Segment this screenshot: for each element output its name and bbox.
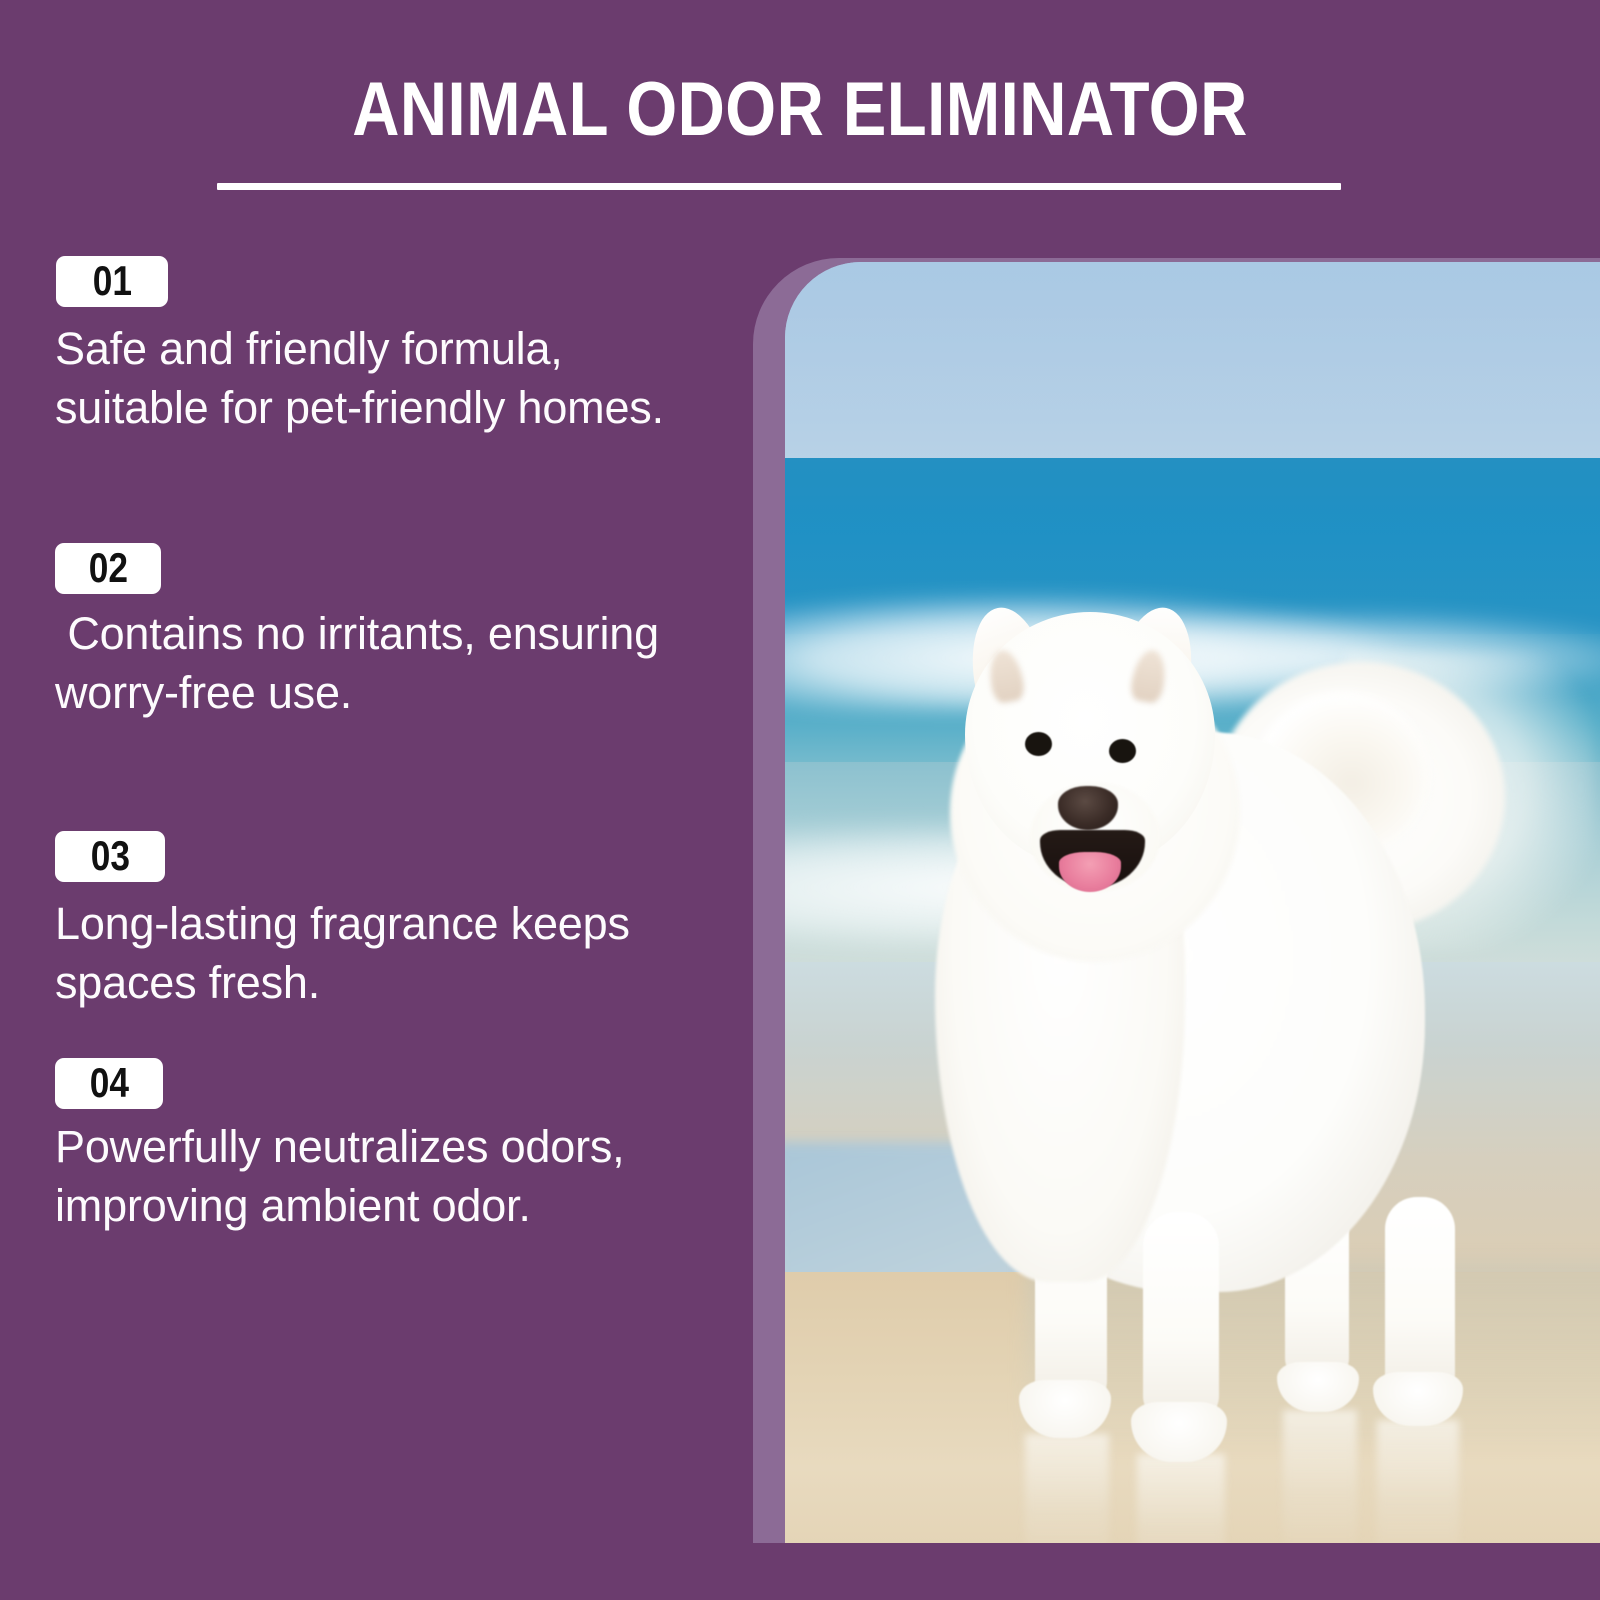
feature-number-04: 04 — [89, 1058, 128, 1108]
dog-illustration — [785, 262, 1600, 1543]
feature-item-02: 02 Contains no irritants, ensuring worry… — [0, 543, 720, 723]
feature-text-03: Long-lasting fragrance keeps spaces fres… — [55, 894, 715, 1013]
leg-reflection-4 — [1377, 1420, 1459, 1543]
dog-front-paw-left — [1019, 1380, 1111, 1438]
feature-text-01: Safe and friendly formula, suitable for … — [55, 319, 695, 438]
header: ANIMAL ODOR ELIMINATOR — [0, 0, 1600, 215]
dog-hind-leg-right — [1385, 1197, 1455, 1397]
feature-number-badge-04: 04 — [55, 1058, 163, 1109]
feature-item-03: 03 Long-lasting fragrance keeps spaces f… — [0, 831, 720, 1013]
feature-text-02: Contains no irritants, ensuring worry-fr… — [55, 604, 715, 723]
dog-hind-paw-right — [1373, 1372, 1463, 1426]
dog-eye-right — [1109, 739, 1136, 763]
dog-hind-paw-left — [1277, 1362, 1359, 1412]
page-title: ANIMAL ODOR ELIMINATOR — [112, 72, 1488, 148]
leg-reflection-3 — [1283, 1410, 1357, 1543]
leg-reflection-2 — [1137, 1454, 1225, 1543]
feature-number-01: 01 — [92, 256, 131, 306]
dog-front-leg-right — [1143, 1212, 1219, 1422]
feature-text-04: Powerfully neutralizes odors, improving … — [55, 1117, 695, 1236]
title-divider — [217, 183, 1341, 190]
feature-number-02: 02 — [88, 543, 127, 593]
feature-item-04: 04 Powerfully neutralizes odors, improvi… — [0, 1058, 720, 1236]
dog-eye-left — [1025, 732, 1052, 756]
feature-number-03: 03 — [90, 831, 129, 881]
feature-item-01: 01 Safe and friendly formula, suitable f… — [0, 256, 720, 438]
feature-number-badge-03: 03 — [55, 831, 165, 882]
leg-reflection-1 — [1025, 1434, 1109, 1543]
feature-number-badge-02: 02 — [55, 543, 161, 594]
feature-number-badge-01: 01 — [56, 256, 168, 307]
dog-front-paw-right — [1131, 1402, 1227, 1462]
product-photo — [785, 262, 1600, 1543]
